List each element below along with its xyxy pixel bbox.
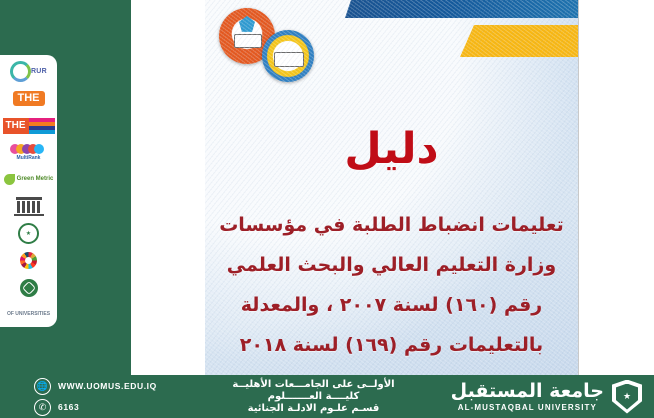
globe-icon: 🌐 (34, 378, 51, 395)
shield-emblem-icon: ★ (612, 380, 642, 414)
footer-department: قسـم علـوم الادلـة الجنائية (205, 403, 422, 414)
subtitle-line-1: تعليمات انضباط الطلبة في مؤسسات (211, 216, 572, 235)
university-emblem-blue (262, 30, 314, 82)
the-impact-label: THE (3, 118, 29, 134)
the-label: THE (13, 91, 45, 106)
sdg-wheel-icon (20, 252, 37, 269)
greenmetric-icon: Green Metric (4, 174, 54, 185)
the-ranking-logo: THE (4, 86, 54, 111)
iau-label: OF UNIVERSITIES (7, 312, 50, 318)
icesco-seal-icon (20, 279, 38, 297)
document-cover-slide: دليل تعليمات انضباط الطلبة في مؤسسات وزا… (205, 0, 579, 379)
icesco-logo (4, 275, 54, 300)
multirank-dots-icon (14, 144, 44, 154)
brand-name-english: AL-MUSTAQBAL UNIVERSITY (451, 403, 604, 412)
brand-text: جامعة المستقبل AL-MUSTAQBAL UNIVERSITY (451, 382, 604, 412)
temple-icon (14, 197, 44, 216)
cover-title-block: دليل (205, 128, 578, 171)
footer-bar: 🌐 WWW.UOMUS.EDU.IQ ✆ 6163 الأولــى على ا… (0, 375, 654, 418)
left-green-rail: RUR THE THE (0, 0, 131, 383)
rur-ring-icon (10, 61, 31, 82)
subtitle-line-4: بالتعليمات رقم (١٦٩) لسنة ٢٠١٨ (211, 336, 572, 355)
footer-brand-block: جامعة المستقبل AL-MUSTAQBAL UNIVERSITY ★ (440, 380, 654, 414)
sdg-wheel-logo (4, 248, 54, 273)
unesco-logo (4, 194, 54, 219)
phone-icon: ✆ (34, 399, 51, 416)
brand-name-arabic: جامعة المستقبل (451, 382, 604, 401)
the-impact-icon: THE (3, 118, 55, 134)
website-row[interactable]: 🌐 WWW.UOMUS.EDU.IQ (34, 378, 205, 395)
the-impact-bars-icon (29, 118, 55, 134)
footer-college: كليــــة العـــــــلوم (205, 391, 422, 402)
blue-banner-shape (345, 0, 578, 18)
shield-inner-icon: ★ (616, 384, 638, 410)
footer-department-block: الأولــى على الجامـــعات الأهليــة كليــ… (205, 379, 440, 415)
multirank-icon: MultiRank (14, 144, 44, 161)
iau-logo: OF UNIVERSITIES (4, 302, 54, 327)
alecso-seal-icon: ★ (18, 223, 39, 244)
slide-viewer: RUR THE THE (0, 0, 654, 418)
footer-tagline: الأولــى على الجامـــعات الأهليــة (205, 379, 422, 390)
cover-subtitle-block: تعليمات انضباط الطلبة في مؤسسات وزارة ال… (211, 216, 572, 355)
footer-contact-block: 🌐 WWW.UOMUS.EDU.IQ ✆ 6163 (0, 378, 205, 416)
alecso-logo: ★ (4, 221, 54, 246)
yellow-banner-shape (460, 25, 578, 57)
rur-ranking-logo: RUR (4, 59, 54, 84)
page-title: دليل (205, 128, 578, 171)
phone-label: 6163 (58, 402, 79, 412)
subtitle-line-3: رقم (١٦٠) لسنة ٢٠٠٧ ، والمعدلة (211, 296, 572, 315)
the-impact-ranking-logo: THE (4, 113, 54, 138)
u-multirank-logo: MultiRank (4, 140, 54, 165)
phone-row[interactable]: ✆ 6163 (34, 399, 205, 416)
subtitle-line-2: وزارة التعليم العالي والبحث العلمي (211, 256, 572, 275)
accreditation-logo-rail: RUR THE THE (0, 55, 57, 327)
website-label: WWW.UOMUS.EDU.IQ (58, 381, 157, 391)
greenmetric-label: Green Metric (17, 176, 54, 182)
rur-label: RUR (31, 68, 47, 75)
leaf-icon (4, 174, 15, 185)
multirank-label: MultiRank (17, 155, 41, 161)
ui-greenmetric-logo: Green Metric (4, 167, 54, 192)
